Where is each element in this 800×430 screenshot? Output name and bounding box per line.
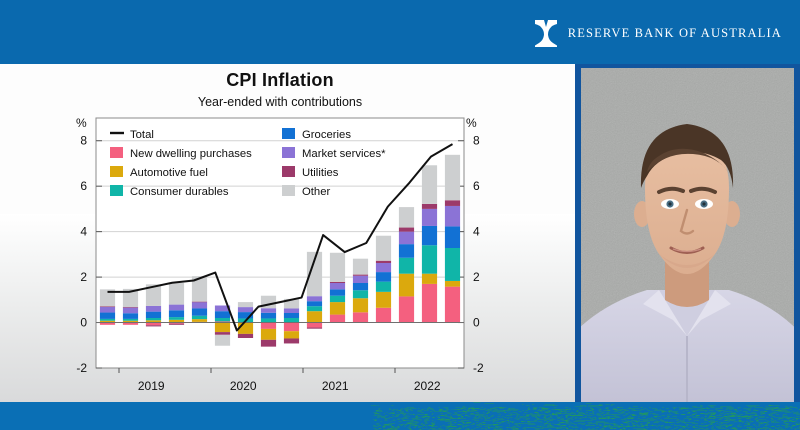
y-tick-label-right: 0 <box>473 316 480 330</box>
bar-segment <box>261 313 276 319</box>
bar-segment <box>445 287 460 323</box>
legend-label: Groceries <box>302 129 351 141</box>
rba-logo-text: RESERVE BANK OF AUSTRALIA <box>568 26 782 41</box>
bar-segment <box>422 284 437 323</box>
bar-segment <box>353 312 368 322</box>
y-tick-label: 4 <box>80 225 87 239</box>
legend-label: Utilities <box>302 167 339 179</box>
bar-segment <box>307 311 322 322</box>
legend-swatch <box>282 185 295 196</box>
portrait-figure <box>581 68 794 402</box>
bar-segment <box>399 244 414 258</box>
bar-segment <box>123 307 138 308</box>
bar-segment <box>192 308 207 315</box>
bar-segment <box>330 283 345 289</box>
rba-logo: RESERVE BANK OF AUSTRALIA <box>533 18 782 48</box>
bar-segment <box>422 226 437 245</box>
y-tick-label: 8 <box>80 134 87 148</box>
bar-segment <box>330 253 345 282</box>
legend-swatch <box>282 166 295 177</box>
bar-segment <box>307 306 322 311</box>
bar-segment <box>169 283 184 305</box>
chart-subtitle: Year-ended with contributions <box>70 95 490 109</box>
rba-chevron-logo-icon <box>533 18 559 48</box>
legend-label: New dwelling purchases <box>130 148 252 160</box>
bar-segment <box>330 296 345 302</box>
bar-segment <box>284 323 299 332</box>
bar-segment <box>238 307 253 312</box>
bar-segment <box>192 302 207 308</box>
bar-segment <box>376 282 391 292</box>
bar-segment <box>353 275 368 276</box>
x-tick-label: 2021 <box>322 379 349 393</box>
chart-title: CPI Inflation <box>70 70 490 91</box>
bar-segment <box>376 272 391 282</box>
bar-segment <box>376 261 391 263</box>
bar-segment <box>422 274 437 284</box>
bar-segment <box>100 313 115 319</box>
bar-segment <box>238 302 253 307</box>
x-tick-label: 2022 <box>414 379 441 393</box>
bar-segment <box>192 319 207 322</box>
bar-segment <box>284 308 299 313</box>
bar-segment <box>169 310 184 317</box>
bar-segment <box>422 204 437 209</box>
y-tick-label-right: 8 <box>473 134 480 148</box>
bar-segment <box>445 206 460 226</box>
bar-segment <box>307 323 322 328</box>
bar-segment <box>376 236 391 261</box>
x-tick-label: 2020 <box>230 379 257 393</box>
bar-segment <box>376 263 391 272</box>
legend-label: Consumer durables <box>130 186 229 198</box>
bar-segment <box>100 319 115 321</box>
bar-segment <box>399 232 414 245</box>
bar-segment <box>330 302 345 315</box>
bar-segment <box>123 313 138 319</box>
legend-label: Automotive fuel <box>130 167 208 179</box>
bar-segment <box>261 323 276 329</box>
legend-label: Other <box>302 186 330 198</box>
bar-segment <box>146 312 161 318</box>
bar-segment <box>422 165 437 204</box>
top-brand-bar: RESERVE BANK OF AUSTRALIA <box>0 0 800 64</box>
bar-segment <box>353 290 368 298</box>
chart-plot: -2-200224466882019202020212022TotalGroce… <box>70 116 490 400</box>
bar-segment <box>399 274 414 297</box>
bar-segment <box>215 332 230 335</box>
legend-swatch <box>110 147 123 158</box>
bar-segment <box>123 308 138 314</box>
bar-segment <box>353 259 368 275</box>
bar-segment <box>445 248 460 281</box>
bar-segment <box>215 323 230 333</box>
bar-segment <box>215 318 230 321</box>
bar-segment <box>330 315 345 323</box>
bar-segment <box>261 308 276 313</box>
y-tick-label: -2 <box>76 361 87 375</box>
bar-segment <box>353 276 368 283</box>
legend-swatch <box>282 128 295 139</box>
bar-segment <box>169 317 184 320</box>
bar-segment <box>445 281 460 287</box>
legend-swatch <box>110 166 123 177</box>
bar-segment <box>123 319 138 321</box>
bar-segment <box>169 324 184 325</box>
bar-segment <box>307 328 322 329</box>
bar-segment <box>330 282 345 283</box>
portrait-image <box>581 68 794 402</box>
bottom-brand-bar <box>0 402 800 430</box>
bar-segment <box>215 335 230 346</box>
bar-segment <box>353 283 368 290</box>
bar-segment <box>399 296 414 322</box>
bar-segment <box>238 334 253 338</box>
weave-pattern-icon <box>370 402 800 430</box>
cpi-inflation-chart: CPI Inflation Year-ended with contributi… <box>70 70 490 400</box>
bar-segment <box>284 318 299 323</box>
legend-label: Total <box>130 129 154 141</box>
bar-segment <box>445 155 460 200</box>
bar-segment <box>146 325 161 326</box>
y-tick-label-right: 6 <box>473 179 480 193</box>
bar-segment <box>376 308 391 323</box>
bar-segment <box>192 316 207 319</box>
x-tick-label: 2019 <box>138 379 165 393</box>
bar-segment <box>146 306 161 312</box>
slide-body: CPI Inflation Year-ended with contributi… <box>0 64 800 402</box>
bar-segment <box>146 318 161 320</box>
bar-segment <box>284 331 299 338</box>
slide-screen: RESERVE BANK OF AUSTRALIA <box>0 0 800 430</box>
bar-segment <box>169 305 184 311</box>
bar-segment <box>215 311 230 318</box>
bar-segment <box>422 209 437 226</box>
y-tick-label: 2 <box>80 270 87 284</box>
bar-segment <box>284 338 299 343</box>
bar-segment <box>100 306 115 307</box>
bar-segment <box>399 228 414 232</box>
bar-segment <box>399 258 414 274</box>
bar-segment <box>100 307 115 313</box>
bar-segment <box>307 296 322 301</box>
bar-segment <box>192 302 207 303</box>
presenter-portrait <box>575 64 800 402</box>
bar-segment <box>261 318 276 322</box>
y-tick-label: 6 <box>80 179 87 193</box>
y-tick-label: 0 <box>80 316 87 330</box>
bar-segment <box>353 298 368 312</box>
y-tick-label-right: 2 <box>473 270 480 284</box>
bar-segment <box>284 313 299 318</box>
y-tick-label-right: 4 <box>473 225 480 239</box>
legend-swatch <box>110 185 123 196</box>
bar-segment <box>422 245 437 273</box>
bar-segment <box>376 292 391 308</box>
bar-segment <box>261 340 276 347</box>
bar-segment <box>307 301 322 306</box>
bar-segment <box>261 329 276 340</box>
legend-label: Market services* <box>302 148 386 160</box>
bar-segment <box>399 207 414 227</box>
bar-segment <box>445 200 460 206</box>
bar-segment <box>445 226 460 248</box>
legend-swatch <box>282 147 295 158</box>
y-tick-label-right: -2 <box>473 361 484 375</box>
bar-segment <box>330 289 345 295</box>
